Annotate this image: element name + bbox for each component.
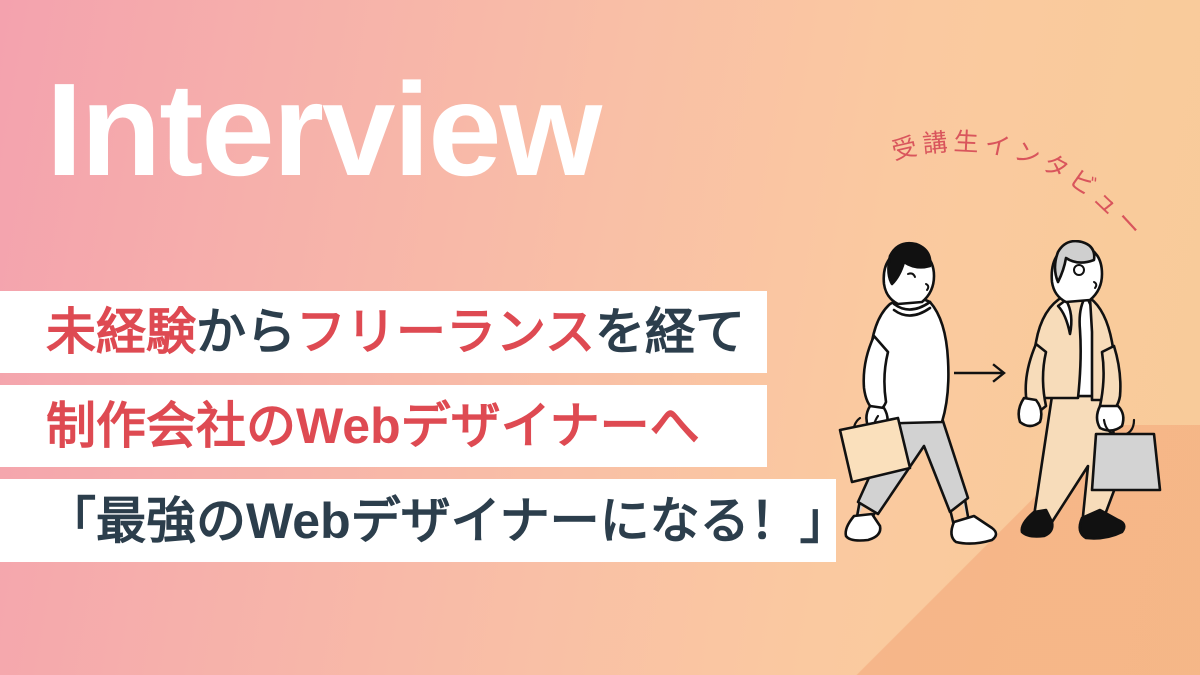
headline-band-2: 制作会社のWebデザイナーへ bbox=[0, 385, 767, 467]
headline-2-seg-1: 制作会社のWebデザイナーへ bbox=[46, 398, 700, 454]
interview-banner: Interview 未経験からフリーランスを経て 制作会社のWebデザイナーへ … bbox=[0, 0, 1200, 675]
page-title: Interview bbox=[46, 64, 600, 196]
figure-right-suit bbox=[1019, 241, 1160, 538]
handwritten-label-text: 受講生インタビュー bbox=[889, 128, 1151, 247]
headline-3-seg-1: 「最強のWebデザイナーになる！」 bbox=[46, 493, 850, 549]
headline-1-seg-3: フリーランス bbox=[296, 304, 595, 360]
headline-band-3: 「最強のWebデザイナーになる！」 bbox=[0, 479, 836, 562]
headline-band-1: 未経験からフリーランスを経て bbox=[0, 291, 767, 373]
headline-1-seg-4: を経て bbox=[595, 304, 745, 360]
figure-left-casual bbox=[840, 243, 996, 543]
headline-1-seg-1: 未経験 bbox=[46, 304, 196, 360]
headline-1-seg-2: から bbox=[196, 304, 296, 360]
walking-figures-illustration bbox=[838, 240, 1200, 570]
